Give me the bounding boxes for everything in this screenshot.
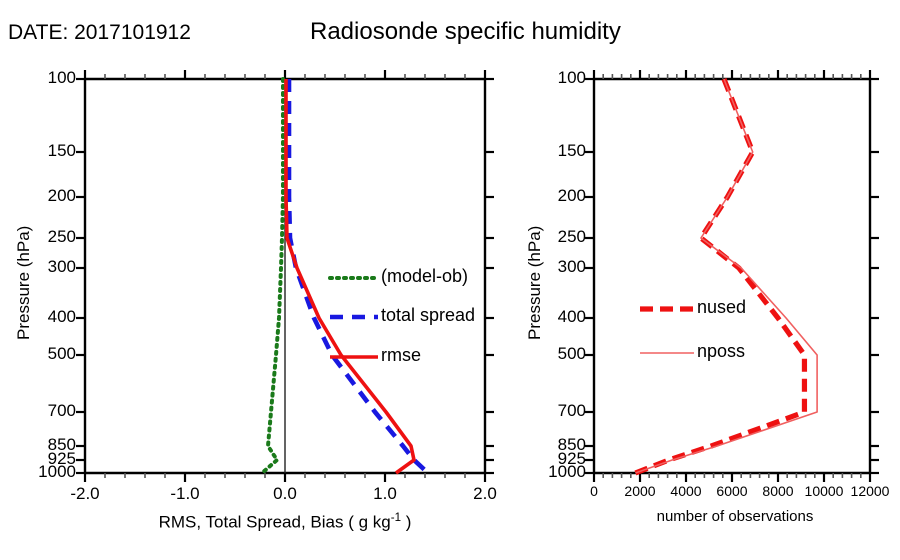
left-panel-xtick-label: -2.0 (40, 484, 130, 504)
left-panel-ytick-label: 500 (6, 344, 76, 364)
right-panel-ytick-label: 250 (516, 227, 586, 247)
legend-rmse-label: rmse (381, 345, 421, 366)
legend-nposs-label: nposs (697, 341, 745, 362)
legend-total-spread-label: total spread (381, 305, 475, 326)
left-panel-ytick-label: 250 (6, 227, 76, 247)
left-panel-ytick-label: 150 (6, 141, 76, 161)
right-panel-axes (585, 70, 879, 482)
left-panel-xtick-label: 1.0 (340, 484, 430, 504)
right-panel-ytick-label: 200 (516, 186, 586, 206)
right-panel-ytick-label: 700 (516, 401, 586, 421)
series-line (635, 79, 817, 473)
right-panel-xtick-label: 12000 (825, 483, 900, 499)
left-panel-ytick-label: 200 (6, 186, 76, 206)
left-panel-ytick-label: 1000 (6, 462, 76, 482)
screenshot-root: DATE: 2017101912 Radiosonde specific hum… (0, 0, 900, 560)
left-panel-xtick-label: 2.0 (440, 484, 530, 504)
left-panel-ytick-label: 700 (6, 401, 76, 421)
left-panel-ytick-label: 300 (6, 257, 76, 277)
left-panel-ytick-label: 400 (6, 307, 76, 327)
right-panel-ytick-label: 100 (516, 68, 586, 88)
series-line (635, 79, 804, 473)
left-panel-xtick-label: 0.0 (240, 484, 330, 504)
left-panel-xtick-label: -1.0 (140, 484, 230, 504)
right-panel-ytick-label: 1000 (516, 462, 586, 482)
series-line (262, 79, 283, 473)
right-panel-ytick-label: 300 (516, 257, 586, 277)
legend-model-ob-label: (model-ob) (381, 266, 468, 287)
right-panel-ytick-label: 150 (516, 141, 586, 161)
right-panel-ytick-label: 500 (516, 344, 586, 364)
left-panel-ytick-label: 100 (6, 68, 76, 88)
legend-nused-label: nused (697, 297, 746, 318)
right-panel-ytick-label: 400 (516, 307, 586, 327)
